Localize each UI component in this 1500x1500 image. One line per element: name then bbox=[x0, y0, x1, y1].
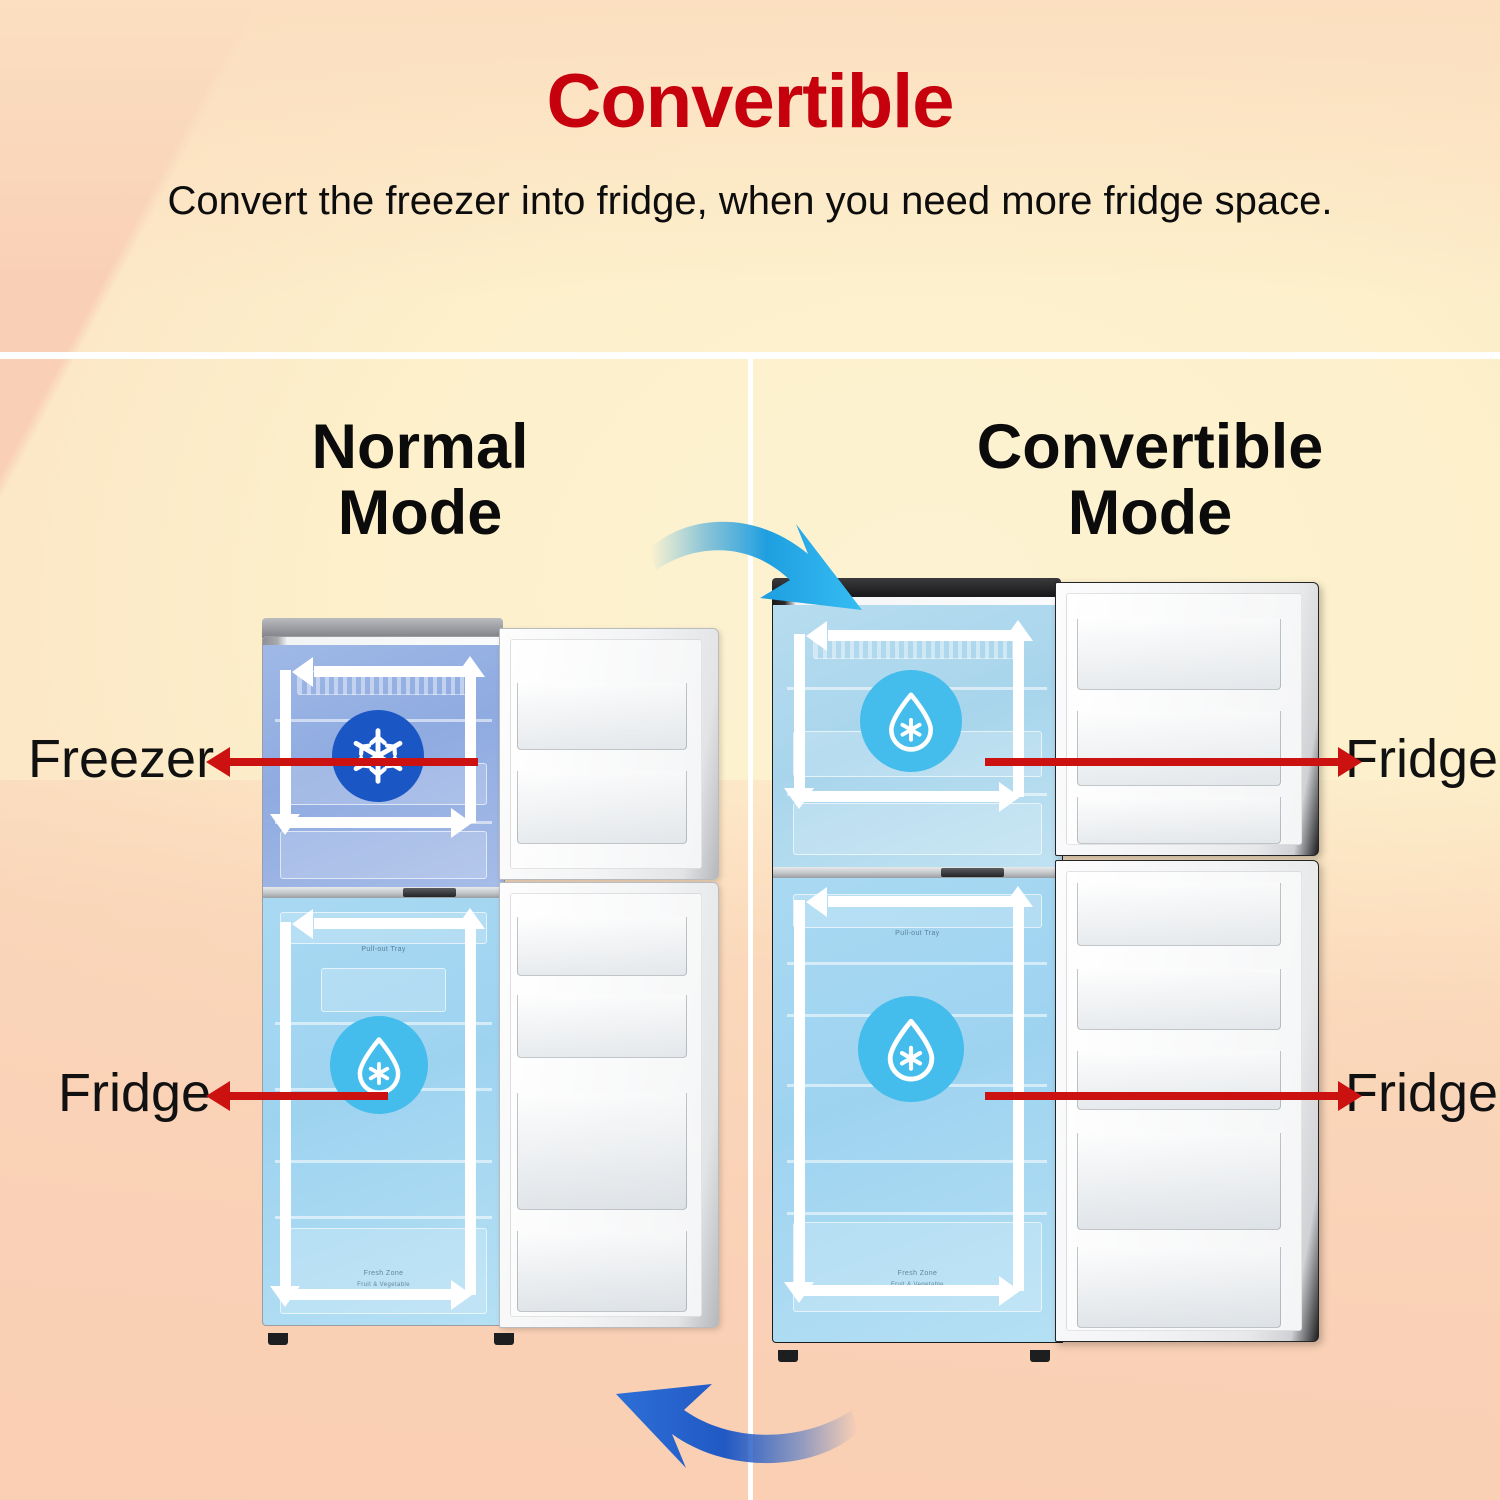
freezer-door-shelf-1-left bbox=[517, 683, 687, 750]
fridge-shelf4-right bbox=[787, 1160, 1047, 1163]
converted-shelf2-right bbox=[787, 793, 1047, 796]
normal-mode-title: NormalMode bbox=[190, 415, 650, 546]
label-fridge-left: Fridge bbox=[58, 1062, 211, 1124]
fridge-shelf5-right bbox=[787, 1212, 1047, 1215]
label-fridge-right-bottom: Fridge bbox=[1345, 1062, 1498, 1124]
upper-door-right[interactable] bbox=[1055, 582, 1319, 856]
label-freezer-left: Freezer bbox=[28, 728, 214, 790]
pointer-line-fridge-left bbox=[228, 1092, 388, 1100]
lower-door-bottle-rack-right bbox=[1077, 1133, 1281, 1230]
freezer-door-shelf-2-left bbox=[517, 771, 687, 844]
header-section: Convertible Convert the freezer into fri… bbox=[0, 0, 1500, 352]
header-divider bbox=[0, 352, 1500, 359]
convert-forward-arrow-icon bbox=[648, 492, 898, 622]
page-subtitle: Convert the freezer into fridge, when yo… bbox=[0, 140, 1500, 228]
freezer-drawer-left bbox=[280, 831, 487, 879]
fresh-zone-sub-label-right: Fruit & Vegetable bbox=[773, 1282, 1062, 1288]
fridge-door-shelf-1-left bbox=[517, 917, 687, 976]
water-drop-snowflake-icon-upper bbox=[860, 670, 962, 772]
cabinet-foot-left-2 bbox=[494, 1333, 514, 1345]
freezer-vent-left bbox=[297, 671, 471, 695]
pull-out-tray-label-right: Pull-out Tray bbox=[773, 930, 1062, 937]
fridge-door-left[interactable] bbox=[499, 882, 719, 1328]
lower-door-shelf-4-right bbox=[1077, 1247, 1281, 1328]
fridge-compartment-right: Pull-out Tray Fresh Zone Fruit & Vegetab… bbox=[773, 878, 1062, 1342]
lower-door-shelf-2-right bbox=[1077, 969, 1281, 1030]
freezer-shelf2-left bbox=[275, 821, 492, 824]
convert-back-arrow-icon bbox=[560, 1372, 860, 1500]
lower-door-shelf-1-right bbox=[1077, 883, 1281, 946]
fridge-shelf4-left bbox=[275, 1216, 492, 1219]
lower-door-right[interactable] bbox=[1055, 860, 1319, 1342]
fridge-shelf3-left bbox=[275, 1160, 492, 1163]
page-title: Convertible bbox=[0, 0, 1500, 140]
refrigerator-normal-mode: Pull-out Tray Fresh Zone Fruit & Vegetab… bbox=[262, 618, 717, 1336]
fresh-zone-sub-label-left: Fruit & Vegetable bbox=[263, 1282, 504, 1288]
cabinet-top-cap-left bbox=[262, 618, 503, 638]
fridge-door-bottle-rack-left bbox=[517, 1093, 687, 1210]
water-drop-snowflake-icon-lower bbox=[858, 996, 964, 1102]
converted-drawer-right bbox=[793, 803, 1041, 855]
pointer-line-fridge-right-top bbox=[985, 758, 1340, 766]
cabinet-foot-right-1 bbox=[778, 1350, 798, 1362]
cabinet-foot-left-1 bbox=[268, 1333, 288, 1345]
converted-vent-right bbox=[813, 635, 1021, 659]
convertible-mode-title: ConvertibleMode bbox=[850, 415, 1450, 546]
door-hinge-right bbox=[941, 868, 1005, 877]
upper-door-shelf-3-right bbox=[1077, 797, 1281, 844]
refrigerator-convertible-mode: Pull-out Tray Fresh Zone Fruit & Vegetab… bbox=[772, 578, 1317, 1353]
fridge-shelf1-right bbox=[787, 962, 1047, 965]
lower-door-shelf-3-right bbox=[1077, 1051, 1281, 1110]
deodorizer-left bbox=[321, 968, 446, 1012]
upper-door-shelf-2-right bbox=[1077, 711, 1281, 786]
cabinet-foot-right-2 bbox=[1030, 1350, 1050, 1362]
pull-out-tray-label-left: Pull-out Tray bbox=[263, 946, 504, 953]
fridge-door-shelf-2-left bbox=[517, 995, 687, 1058]
pointer-line-freezer-left bbox=[228, 758, 478, 766]
crisper-drawer-right bbox=[793, 1222, 1041, 1312]
pull-out-tray-left bbox=[280, 912, 487, 944]
snowflake-icon bbox=[332, 710, 424, 802]
mid-rail-right bbox=[773, 867, 1062, 878]
fridge-door-shelf-3-left bbox=[517, 1231, 687, 1312]
freezer-door-left[interactable] bbox=[499, 628, 719, 880]
infographic-canvas: Convertible Convert the freezer into fri… bbox=[0, 0, 1500, 1500]
upper-door-shelf-1-right bbox=[1077, 619, 1281, 690]
label-fridge-right-top: Fridge bbox=[1345, 728, 1498, 790]
pointer-line-fridge-right-bottom bbox=[985, 1092, 1340, 1100]
fresh-zone-label-right: Fresh Zone bbox=[773, 1270, 1062, 1277]
fresh-zone-label-left: Fresh Zone bbox=[263, 1270, 504, 1277]
pull-out-tray-right bbox=[793, 894, 1041, 928]
mid-rail-left bbox=[263, 887, 504, 898]
door-hinge-left bbox=[403, 888, 456, 897]
